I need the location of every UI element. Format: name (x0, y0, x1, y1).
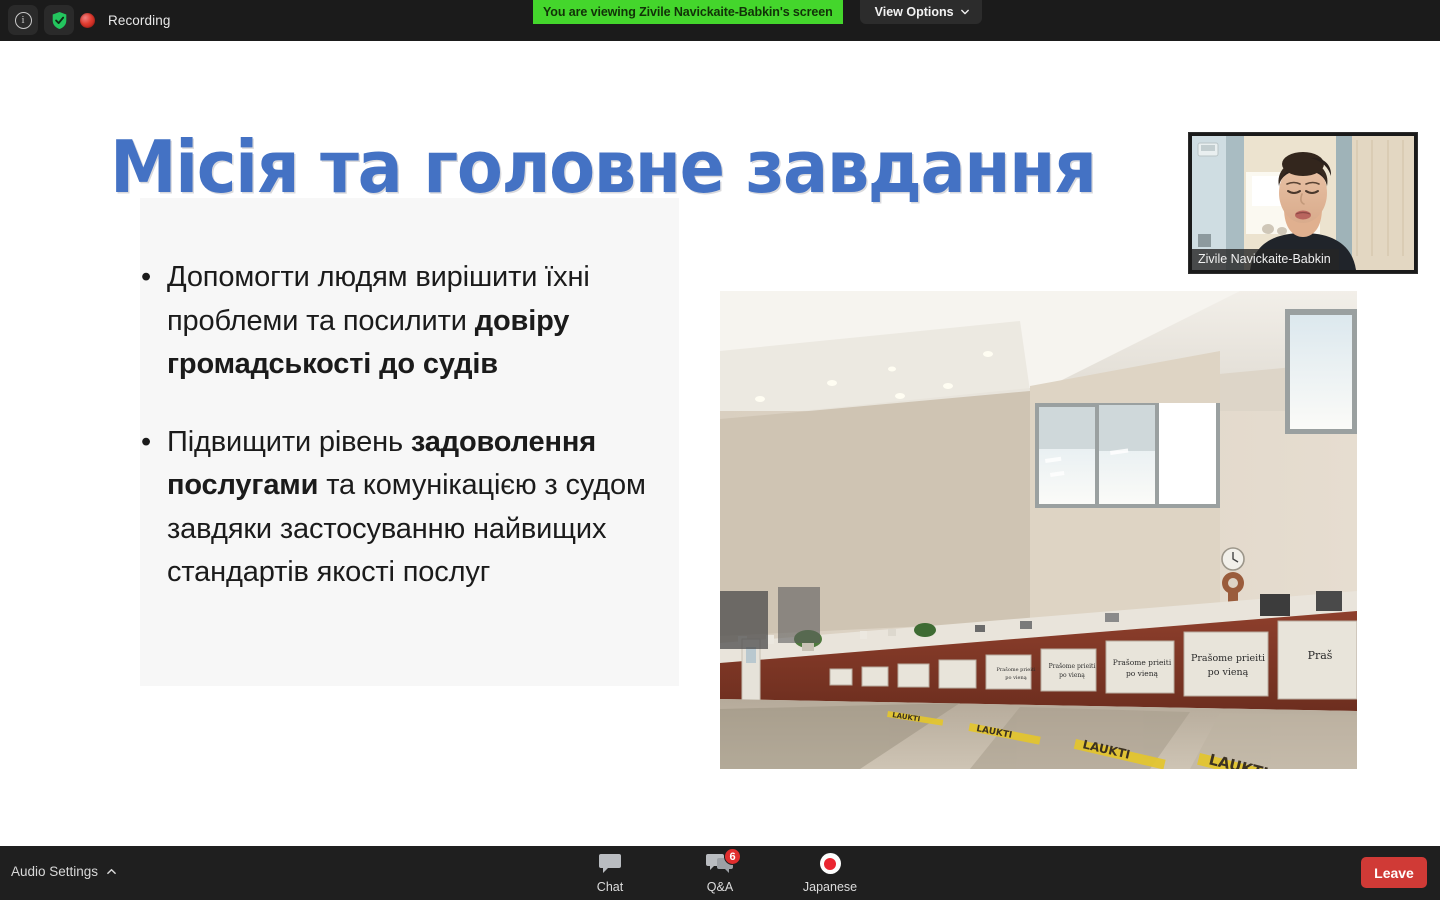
meeting-info-button[interactable] (8, 5, 38, 35)
svg-text:po vieną: po vieną (1005, 675, 1026, 681)
svg-text:Praš: Praš (1308, 649, 1333, 662)
bullet-marker: • (140, 256, 167, 387)
svg-text:Prašome prieiti: Prašome prieiti (1113, 658, 1172, 667)
view-options-button[interactable]: View Options (860, 0, 982, 24)
zoom-meeting-window: Recording You are viewing Zivile Navicka… (0, 0, 1440, 900)
shield-check-icon (51, 11, 68, 30)
svg-text:Prašome prieiti: Prašome prieiti (1049, 663, 1096, 670)
bullet-marker: • (140, 421, 167, 595)
svg-text:Prašome prieiti: Prašome prieiti (1191, 653, 1265, 664)
interpretation-button[interactable]: Japanese (798, 852, 862, 894)
list-item: • Допомогти людям вирішити їхні проблеми… (140, 256, 685, 387)
bullet-text: Підвищити рівень задоволення послугами т… (167, 421, 685, 595)
qa-badge-count: 6 (724, 848, 741, 865)
svg-text:po vieną: po vieną (1059, 672, 1085, 679)
chat-label: Chat (597, 880, 623, 894)
bottom-toolbar: Audio Settings Chat (0, 846, 1440, 900)
court-hall-illustration: apylinkės teismas (720, 291, 1357, 769)
participant-video-tile[interactable]: Zivile Navickaite-Babkin (1189, 133, 1417, 273)
chat-bubble-icon (598, 852, 622, 875)
top-toolbar: Recording You are viewing Zivile Navicka… (0, 0, 1440, 41)
japanese-flag-icon (820, 852, 841, 875)
slide-photo: apylinkės teismas (720, 291, 1357, 769)
leave-button[interactable]: Leave (1361, 857, 1427, 888)
svg-text:po vieną: po vieną (1126, 669, 1159, 678)
slide-title: Місія та головне завдання (110, 131, 1049, 203)
screen-share-status-group: You are viewing Zivile Navickaite-Babkin… (533, 0, 982, 24)
encryption-status-button[interactable] (44, 5, 74, 35)
interpretation-label: Japanese (803, 880, 857, 894)
qa-button[interactable]: 6 Q&A (688, 852, 752, 894)
chat-button[interactable]: Chat (578, 852, 642, 894)
view-options-label: View Options (875, 5, 954, 19)
qa-label: Q&A (707, 880, 733, 894)
participant-name-label: Zivile Navickaite-Babkin (1192, 249, 1339, 270)
info-icon (15, 12, 32, 29)
record-dot-icon (80, 13, 95, 28)
bullet-text: Допомогти людям вирішити їхні проблеми т… (167, 256, 685, 387)
svg-text:po vieną: po vieną (1208, 667, 1249, 678)
slide-bullet-list: • Допомогти людям вирішити їхні проблеми… (140, 256, 685, 629)
viewing-screen-banner: You are viewing Zivile Navickaite-Babkin… (533, 0, 843, 24)
top-toolbar-left-group: Recording (8, 5, 170, 35)
chevron-down-icon (961, 8, 969, 16)
svg-text:Prašome prieiti: Prašome prieiti (997, 666, 1036, 673)
recording-label: Recording (108, 13, 170, 28)
meeting-controls: Chat 6 Q&A Japanese (0, 852, 1440, 894)
list-item: • Підвищити рівень задоволення послугами… (140, 421, 685, 595)
